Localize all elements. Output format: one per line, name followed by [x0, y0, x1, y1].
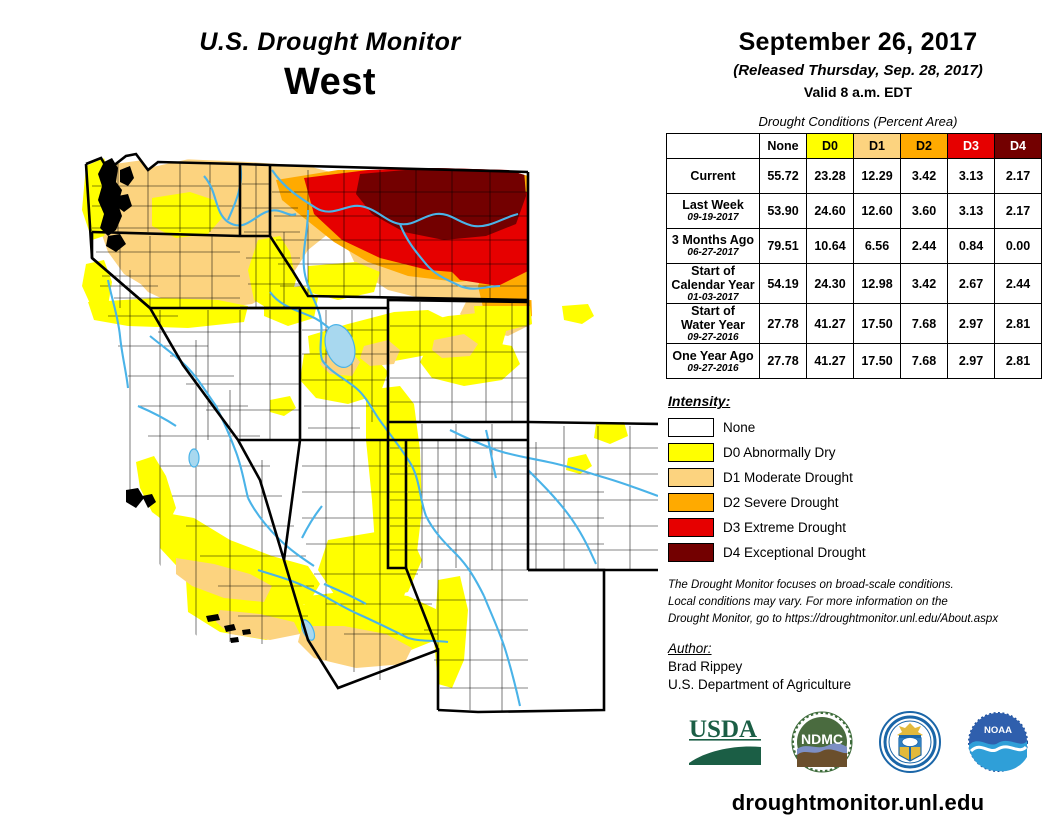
map-title-block: U.S. Drought Monitor West [0, 28, 660, 104]
cell-d2: 3.60 [901, 194, 948, 229]
cell-none: 27.78 [760, 304, 807, 344]
cell-d2: 3.42 [901, 264, 948, 304]
table-header-row: None D0 D1 D2 D3 D4 [667, 134, 1042, 159]
legend-item: D4 Exceptional Drought [668, 540, 866, 565]
column-header-d2: D2 [901, 134, 948, 159]
cell-d1: 17.50 [854, 344, 901, 379]
row-label-3: Start ofCalendar Year01-03-2017 [667, 264, 760, 304]
table-row: One Year Ago09-27-201627.7841.2717.507.6… [667, 344, 1042, 379]
table-row: Last Week09-19-201753.9024.6012.603.603.… [667, 194, 1042, 229]
table-corner-cell [667, 134, 760, 159]
table-row: Start ofCalendar Year01-03-201754.1924.3… [667, 264, 1042, 304]
cell-d4: 2.44 [995, 264, 1042, 304]
cell-d3: 0.84 [948, 229, 995, 264]
usdc-noaa-seal [879, 711, 941, 773]
row-label-title: Current [667, 169, 759, 183]
row-label-date: 09-19-2017 [667, 212, 759, 223]
legend-label: D0 Abnormally Dry [723, 445, 836, 460]
noaa-logo: NOAA [967, 711, 1029, 773]
cell-none: 79.51 [760, 229, 807, 264]
map-title-supertitle: U.S. Drought Monitor [0, 28, 660, 57]
column-header-d3: D3 [948, 134, 995, 159]
legend-swatch [668, 518, 714, 537]
info-panel: September 26, 2017 (Released Thursday, S… [660, 0, 1056, 816]
legend-swatch [668, 443, 714, 462]
valid-time: Valid 8 a.m. EDT [660, 84, 1056, 100]
legend-block: Intensity: NoneD0 Abnormally DryD1 Moder… [668, 393, 1056, 565]
cell-d1: 12.60 [854, 194, 901, 229]
row-label-0: Current [667, 159, 760, 194]
disclaimer-note: The Drought Monitor focuses on broad-sca… [668, 577, 1056, 627]
cell-d3: 2.67 [948, 264, 995, 304]
row-label-date: 09-27-2016 [667, 363, 759, 374]
cell-d3: 2.97 [948, 304, 995, 344]
report-date: September 26, 2017 [660, 28, 1056, 57]
row-label-title: Start ofWater Year [667, 304, 759, 332]
row-label-title: Start ofCalendar Year [667, 264, 759, 292]
cell-d4: 2.17 [995, 159, 1042, 194]
table-caption: Drought Conditions (Percent Area) [660, 114, 1056, 129]
cell-d4: 2.17 [995, 194, 1042, 229]
column-header-d4: D4 [995, 134, 1042, 159]
legend-label: D3 Extreme Drought [723, 520, 846, 535]
legend-item: D3 Extreme Drought [668, 515, 866, 540]
row-label-1: Last Week09-19-2017 [667, 194, 760, 229]
map-title-region: West [0, 61, 660, 104]
column-header-d1: D1 [854, 134, 901, 159]
cell-d1: 12.98 [854, 264, 901, 304]
legend-column-left: NoneD0 Abnormally DryD1 Moderate Drought [668, 415, 858, 490]
cell-none: 54.19 [760, 264, 807, 304]
legend-swatch [668, 543, 714, 562]
legend-item: D2 Severe Drought [668, 490, 866, 515]
drought-conditions-table: None D0 D1 D2 D3 D4 Current55.7223.2812.… [666, 133, 1042, 379]
logo-strip: USDA NDMC [660, 706, 1056, 778]
row-label-date: 06-27-2017 [667, 247, 759, 258]
legend-swatch [668, 493, 714, 512]
cell-d2: 3.42 [901, 159, 948, 194]
cell-d2: 7.68 [901, 344, 948, 379]
cell-d4: 0.00 [995, 229, 1042, 264]
legend-label: D4 Exceptional Drought [723, 545, 866, 560]
row-label-5: One Year Ago09-27-2016 [667, 344, 760, 379]
legend-label: None [723, 420, 755, 435]
cell-d1: 17.50 [854, 304, 901, 344]
legend-heading: Intensity: [668, 393, 1056, 409]
usda-logo: USDA [687, 713, 765, 771]
svg-text:NOAA: NOAA [984, 725, 1012, 736]
cell-d3: 3.13 [948, 194, 995, 229]
note-line-1: The Drought Monitor focuses on broad-sca… [668, 577, 1056, 594]
cell-d3: 2.97 [948, 344, 995, 379]
cell-d3: 3.13 [948, 159, 995, 194]
cell-d4: 2.81 [995, 344, 1042, 379]
column-header-none: None [760, 134, 807, 159]
legend-swatch [668, 468, 714, 487]
row-label-title: Last Week [667, 198, 759, 212]
row-label-date: 09-27-2016 [667, 332, 759, 343]
svg-text:NDMC: NDMC [801, 731, 843, 747]
column-header-d0: D0 [807, 134, 854, 159]
row-label-title: One Year Ago [667, 349, 759, 363]
table-row: 3 Months Ago06-27-201779.5110.646.562.44… [667, 229, 1042, 264]
legend-label: D1 Moderate Drought [723, 470, 853, 485]
drought-map[interactable] [8, 140, 658, 810]
cell-d2: 2.44 [901, 229, 948, 264]
legend-column-right: D2 Severe DroughtD3 Extreme DroughtD4 Ex… [668, 490, 866, 565]
cell-d1: 6.56 [854, 229, 901, 264]
row-label-title: 3 Months Ago [667, 233, 759, 247]
cell-none: 55.72 [760, 159, 807, 194]
cell-none: 27.78 [760, 344, 807, 379]
website-url[interactable]: droughtmonitor.unl.edu [660, 790, 1056, 816]
row-label-date: 01-03-2017 [667, 292, 759, 303]
author-name: Brad Rippey [668, 659, 1056, 674]
map-panel: U.S. Drought Monitor West [0, 0, 660, 816]
legend-item: D1 Moderate Drought [668, 465, 858, 490]
legend-label: D2 Severe Drought [723, 495, 839, 510]
legend-swatch [668, 418, 714, 437]
author-org: U.S. Department of Agriculture [668, 677, 1056, 692]
table-body: Current55.7223.2812.293.423.132.17Last W… [667, 159, 1042, 379]
author-block: Author: Brad Rippey U.S. Department of A… [668, 641, 1056, 692]
cell-d1: 12.29 [854, 159, 901, 194]
note-line-3: Drought Monitor, go to https://droughtmo… [668, 611, 1056, 628]
cell-d0: 24.60 [807, 194, 854, 229]
legend-item: D0 Abnormally Dry [668, 440, 858, 465]
shade-d0-colorado-e [562, 304, 594, 324]
author-heading: Author: [668, 641, 1056, 656]
cell-d0: 41.27 [807, 304, 854, 344]
ndmc-logo: NDMC [791, 711, 853, 773]
cell-d2: 7.68 [901, 304, 948, 344]
table-row: Start ofWater Year09-27-201627.7841.2717… [667, 304, 1042, 344]
row-label-2: 3 Months Ago06-27-2017 [667, 229, 760, 264]
cell-d0: 41.27 [807, 344, 854, 379]
table-row: Current55.7223.2812.293.423.132.17 [667, 159, 1042, 194]
cell-d0: 24.30 [807, 264, 854, 304]
header-block: September 26, 2017 (Released Thursday, S… [660, 0, 1056, 100]
legend-item: None [668, 415, 858, 440]
cell-none: 53.90 [760, 194, 807, 229]
note-line-2: Local conditions may vary. For more info… [668, 594, 1056, 611]
cell-d0: 23.28 [807, 159, 854, 194]
row-label-4: Start ofWater Year09-27-2016 [667, 304, 760, 344]
svg-text:USDA: USDA [689, 716, 757, 743]
release-date: (Released Thursday, Sep. 28, 2017) [660, 62, 1056, 79]
cell-d4: 2.81 [995, 304, 1042, 344]
cell-d0: 10.64 [807, 229, 854, 264]
